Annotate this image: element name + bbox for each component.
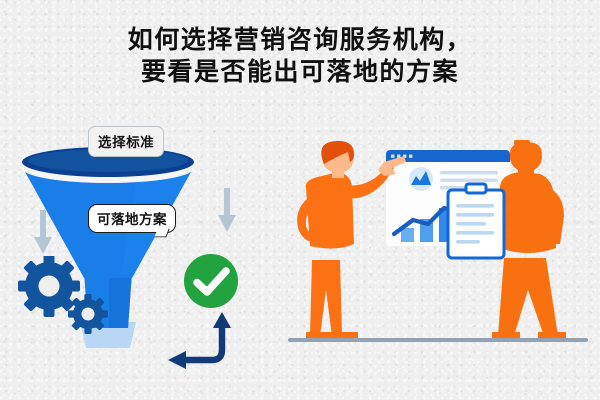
solution-tag: 可落地方案 [88, 204, 176, 233]
people-scene [288, 140, 600, 380]
title-line-2: 要看是否能出可落地的方案 [0, 56, 600, 88]
funnel-scene: 选择标准 可落地方案 [0, 110, 290, 390]
arrow-down-icon [34, 210, 52, 256]
title-line-1: 如何选择营销咨询服务机构， [0, 24, 600, 56]
check-badge-icon [182, 252, 240, 310]
criteria-tag: 选择标准 [88, 126, 164, 157]
bent-double-arrow-icon [160, 306, 246, 372]
gears-icon [16, 256, 108, 336]
clipboard-icon [448, 184, 504, 258]
page-title: 如何选择营销咨询服务机构， 要看是否能出可落地的方案 [0, 24, 600, 88]
ground-line [288, 338, 588, 342]
illustration-people-dashboard [288, 140, 600, 380]
arrow-down-icon [218, 188, 236, 234]
poster-canvas: 如何选择营销咨询服务机构， 要看是否能出可落地的方案 选择标准 可落地方案 [0, 0, 600, 400]
